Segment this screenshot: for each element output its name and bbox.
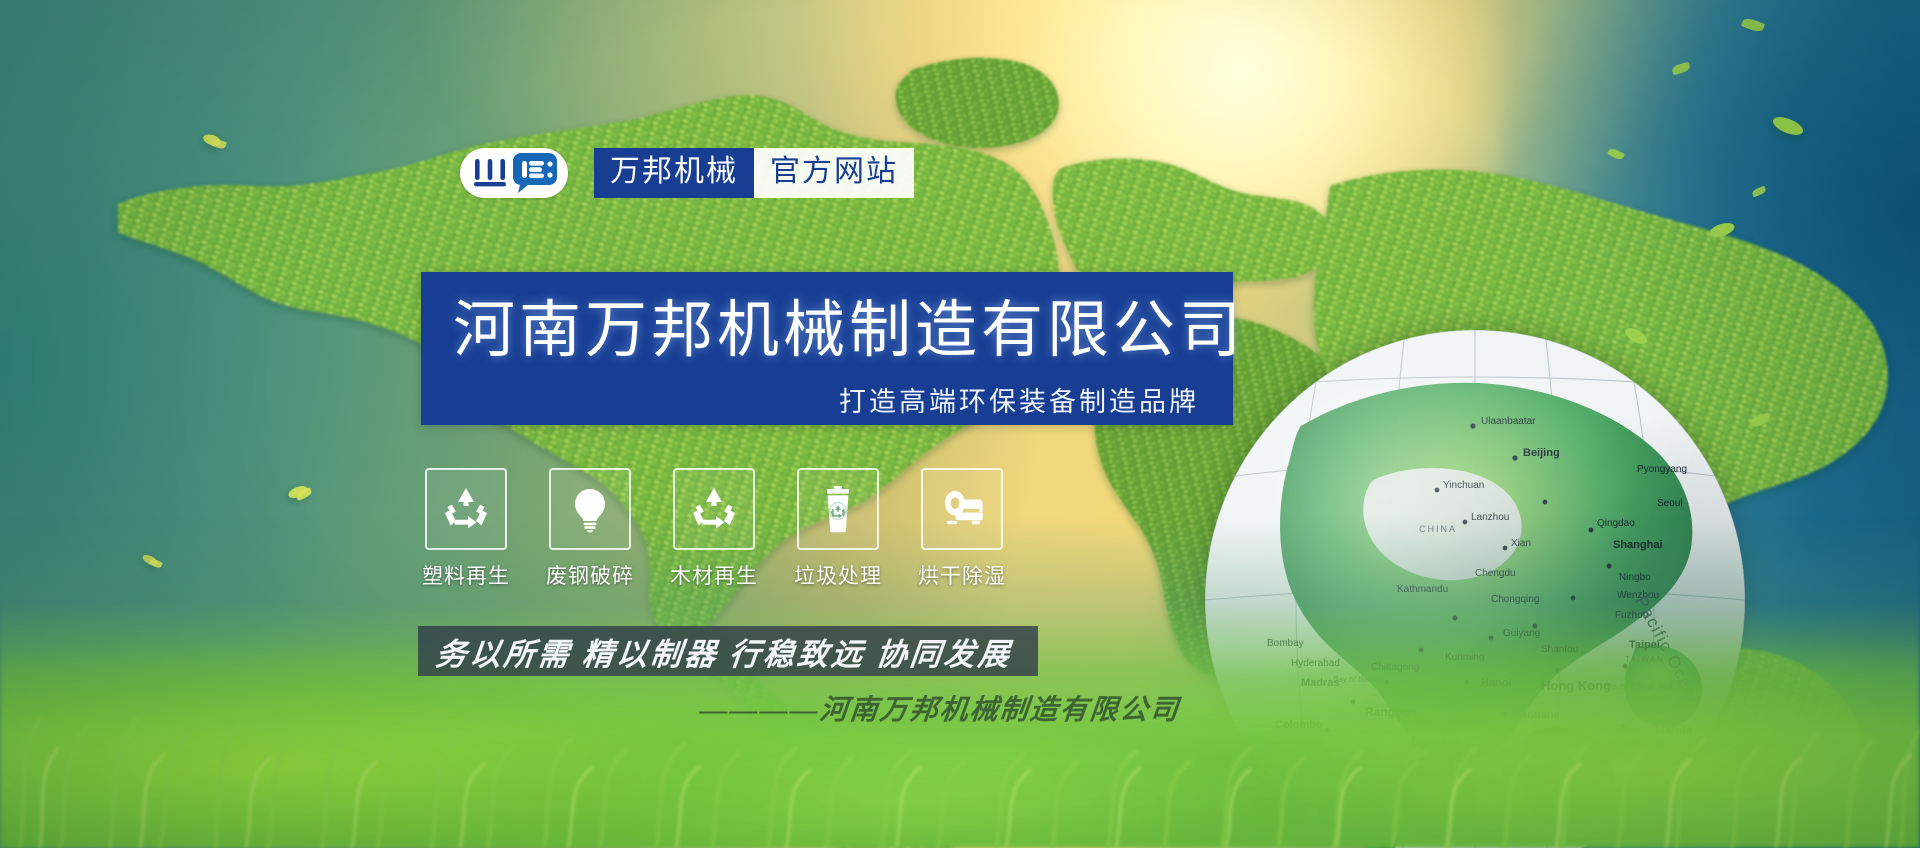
dryer-machine-icon <box>938 485 986 533</box>
feature-icon-box[interactable] <box>673 468 755 550</box>
feature-label: 烘干除湿 <box>918 560 1006 590</box>
feature-item-drying-dehumidifying[interactable]: 烘干除湿 <box>914 468 1010 590</box>
recycle-icon <box>442 485 490 533</box>
hero-title-box: 河南万邦机械制造有限公司 打造高端环保装备制造品牌 <box>421 272 1233 425</box>
logo-bar[interactable]: 万邦机械 官方网站 <box>460 148 914 198</box>
lightbulb-icon <box>566 485 614 533</box>
trash-bin-icon <box>814 485 862 533</box>
hero-banner-stage: Ulaanbaatar Beijing Yinchuan Lanzhou Xia… <box>0 0 1920 848</box>
slogan-banner: 务以所需 精以制器 行稳致远 协同发展 <box>418 626 1038 676</box>
feature-label: 木材再生 <box>670 560 758 590</box>
brand-name-badge[interactable]: 万邦机械 <box>594 148 754 198</box>
logo-b-bubble-icon <box>512 152 558 194</box>
feature-icon-box[interactable] <box>549 468 631 550</box>
official-site-badge[interactable]: 官方网站 <box>754 148 914 198</box>
logo-w-icon <box>471 156 509 190</box>
company-logo-mark[interactable] <box>460 148 568 198</box>
feature-list: 塑料再生 废钢破碎 <box>418 468 1010 590</box>
feature-item-waste-treatment[interactable]: 垃圾处理 <box>790 468 886 590</box>
recycle-icon <box>690 485 738 533</box>
feature-label: 垃圾处理 <box>794 560 882 590</box>
slogan-credit: ————河南万邦机械制造有限公司 <box>698 688 1182 728</box>
feature-label: 塑料再生 <box>422 560 510 590</box>
feature-icon-box[interactable] <box>797 468 879 550</box>
slogan-text: 务以所需 精以制器 行稳致远 协同发展 <box>416 629 1015 674</box>
feature-icon-box[interactable] <box>425 468 507 550</box>
page-title: 河南万邦机械制造有限公司 <box>421 272 1233 362</box>
feature-label: 废钢破碎 <box>546 560 634 590</box>
feature-item-wood-recycling[interactable]: 木材再生 <box>666 468 762 590</box>
page-subtitle: 打造高端环保装备制造品牌 <box>421 362 1233 419</box>
feature-item-scrap-steel-crushing[interactable]: 废钢破碎 <box>542 468 638 590</box>
feature-icon-box[interactable] <box>921 468 1003 550</box>
feature-item-plastic-recycling[interactable]: 塑料再生 <box>418 468 514 590</box>
